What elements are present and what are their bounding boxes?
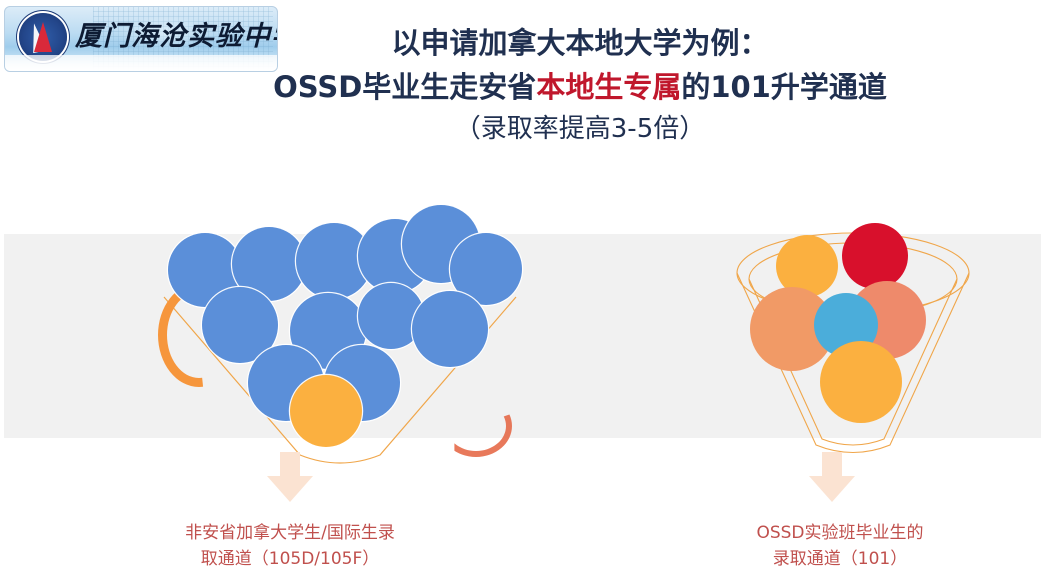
- slide-title: 以申请加拿大本地大学为例： OSSD毕业生走安省本地生专属的101升学通道 （录…: [180, 22, 980, 149]
- right-funnel-diagram: [728, 215, 978, 475]
- title-line-3: （录取率提高3-5倍）: [180, 109, 980, 149]
- title-line-2: OSSD毕业生走安省本地生专属的101升学通道: [180, 66, 980, 108]
- title-line-1: 以申请加拿大本地大学为例：: [180, 22, 980, 64]
- title-line-2-pre: OSSD毕业生走安省: [273, 70, 536, 104]
- funnel-ball: [412, 291, 488, 367]
- left-funnel-diagram: [150, 205, 530, 475]
- title-line-2-post: 的101升学通道: [681, 70, 887, 104]
- funnel-ball: [290, 375, 362, 447]
- left-caption-line-2: 取通道（105D/105F）: [120, 546, 460, 572]
- arrow-stem: [280, 452, 300, 478]
- right-caption-line-1: OSSD实验班毕业生的: [690, 520, 990, 546]
- arrow-stem: [822, 452, 842, 478]
- left-flow-arrow: [267, 452, 313, 502]
- slide-canvas: 厦门海沧实验中学 以申请加拿大本地大学为例： OSSD毕业生走安省本地生专属的1…: [0, 0, 1049, 579]
- arrow-head: [809, 476, 855, 502]
- arrow-head: [267, 476, 313, 502]
- right-caption-line-2: 录取通道（101）: [690, 546, 990, 572]
- left-caption-line-1: 非安省加拿大学生/国际生录: [120, 520, 460, 546]
- funnel-ball: [820, 341, 902, 423]
- right-funnel-caption: OSSD实验班毕业生的 录取通道（101）: [690, 520, 990, 572]
- left-funnel-caption: 非安省加拿大学生/国际生录 取通道（105D/105F）: [120, 520, 460, 572]
- school-crest-icon: [19, 13, 67, 61]
- title-line-2-highlight: 本地生专属: [536, 70, 681, 104]
- right-flow-arrow: [809, 452, 855, 502]
- funnel-ball: [842, 223, 908, 289]
